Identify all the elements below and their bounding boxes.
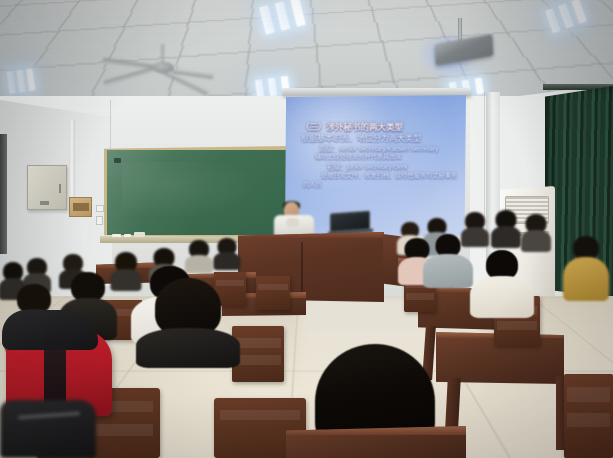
wooden-wall-box xyxy=(69,197,92,217)
classroom-photo: （三）涉外秘书的两大类型 根据基本职责、地位分为两大类型 高级：senior s… xyxy=(0,0,613,458)
instructor-arm xyxy=(286,218,299,227)
instructor xyxy=(272,202,316,236)
chalk-piece[interactable] xyxy=(112,234,121,237)
jacket-center-stripe xyxy=(44,334,66,406)
chalkboard-magnet-icon xyxy=(114,158,121,163)
student-foreground-left xyxy=(140,278,236,362)
chair-slat xyxy=(567,413,610,427)
slide-title: （三）涉外秘书的两大类型 xyxy=(301,121,458,133)
chair-slat xyxy=(567,387,610,401)
student xyxy=(522,214,550,248)
electrical-cabinet xyxy=(27,165,67,210)
student-grey-sweater xyxy=(426,234,470,286)
student-torso xyxy=(136,328,240,368)
student-torso xyxy=(521,230,551,252)
slide-line-3: 辅助上级处理业务并代表其出席 xyxy=(315,154,458,163)
board-eraser[interactable] xyxy=(134,232,145,237)
chair-slat xyxy=(258,284,288,290)
backpack-strap xyxy=(18,412,80,419)
chalkboard xyxy=(104,146,292,238)
student-cream-sweater xyxy=(474,250,530,312)
student-torso xyxy=(470,276,534,318)
slide-line-4: 初级：junior secretary/clerk xyxy=(327,163,458,173)
slide-line-5: 处理日常文件、收发归档、接待性服务与文秘事务 xyxy=(321,173,458,182)
student-chair[interactable] xyxy=(256,276,290,310)
power-outlet-lower[interactable] xyxy=(96,216,103,225)
student-chair[interactable] xyxy=(564,374,613,458)
cabinet-label-tag xyxy=(40,201,49,205)
foreground-desk xyxy=(286,426,466,458)
chair-slat xyxy=(497,321,537,330)
screen-housing xyxy=(283,88,471,96)
laptop[interactable] xyxy=(330,212,370,234)
student-torso xyxy=(491,226,521,248)
podium-panel-seam xyxy=(301,242,303,298)
slide-line-1: 根据基本职责、地位分为两大类型 xyxy=(301,133,458,145)
wall-corner-seam-right xyxy=(484,92,485,222)
slide-line-6: 的人员 xyxy=(303,182,458,191)
chalkboard-sheen xyxy=(107,150,289,235)
black-backpack xyxy=(0,400,96,458)
chair-slat xyxy=(235,338,281,348)
cabinet-latch-icon xyxy=(59,184,61,193)
student-torso xyxy=(563,257,609,301)
student xyxy=(492,210,520,244)
student-torso xyxy=(423,254,473,288)
chalk-piece[interactable] xyxy=(124,234,131,237)
chair-slat xyxy=(220,410,301,420)
student-torso xyxy=(214,252,241,270)
chair-slat xyxy=(406,293,434,300)
power-outlet[interactable] xyxy=(96,205,104,212)
chair-slat xyxy=(235,355,281,365)
student-mustard-jacket xyxy=(566,236,606,298)
student xyxy=(214,238,240,268)
door-edge xyxy=(0,134,7,254)
